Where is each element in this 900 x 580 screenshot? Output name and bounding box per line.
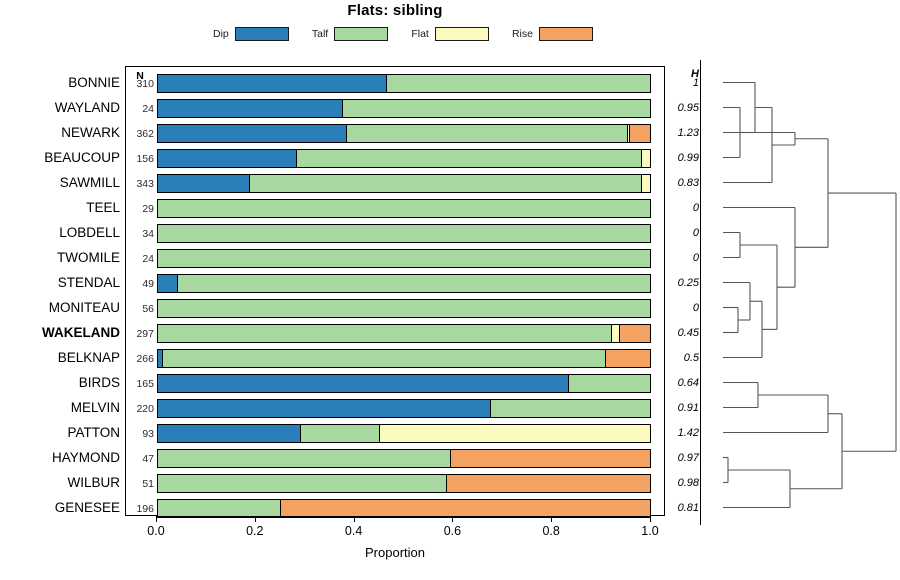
h-value: 0.95 bbox=[665, 102, 699, 114]
y-axis-label-wayland: WAYLAND bbox=[2, 100, 120, 115]
bar-track bbox=[157, 399, 651, 418]
h-value: 0 bbox=[665, 202, 699, 214]
x-axis-tick bbox=[255, 516, 256, 522]
legend-label-talf: Talf bbox=[312, 28, 328, 40]
y-axis-label-belknap: BELKNAP bbox=[2, 350, 120, 365]
bar-row[interactable] bbox=[157, 174, 651, 193]
bar-track bbox=[157, 349, 651, 368]
n-value: 343 bbox=[126, 178, 154, 190]
bar-row[interactable] bbox=[157, 149, 651, 168]
bar-segment-flat bbox=[612, 325, 620, 342]
bar-row[interactable] bbox=[157, 274, 651, 293]
h-value: 0.45 bbox=[665, 327, 699, 339]
bar-row[interactable] bbox=[157, 74, 651, 93]
bar-track bbox=[157, 449, 651, 468]
bar-segment-rise bbox=[620, 325, 650, 342]
bar-segment-flat bbox=[642, 150, 650, 167]
bar-segment-flat bbox=[380, 425, 650, 442]
h-value: 1 bbox=[665, 77, 699, 89]
bar-row[interactable] bbox=[157, 249, 651, 268]
y-axis-label-birds: BIRDS bbox=[2, 375, 120, 390]
h-value: 0.98 bbox=[665, 477, 699, 489]
y-axis-label-bonnie: BONNIE bbox=[2, 75, 120, 90]
n-value: 34 bbox=[126, 228, 154, 240]
dendrogram bbox=[700, 60, 900, 525]
bar-segment-talf bbox=[158, 450, 451, 467]
page-title: Flats: sibling bbox=[0, 2, 790, 19]
h-value: 0.64 bbox=[665, 377, 699, 389]
bar-segment-dip bbox=[158, 375, 569, 392]
h-value: 0.97 bbox=[665, 452, 699, 464]
bar-row[interactable] bbox=[157, 449, 651, 468]
legend-swatch-talf bbox=[334, 27, 388, 41]
bar-track bbox=[157, 174, 651, 193]
bar-row[interactable] bbox=[157, 424, 651, 443]
bar-segment-talf bbox=[158, 250, 650, 267]
bar-track bbox=[157, 299, 651, 318]
bar-track bbox=[157, 224, 651, 243]
x-axis-tick-label: 0.6 bbox=[432, 524, 472, 538]
n-value: 29 bbox=[126, 203, 154, 215]
n-value: 196 bbox=[126, 503, 154, 515]
legend-swatch-dip bbox=[235, 27, 289, 41]
x-axis-tick bbox=[156, 516, 157, 522]
bar-segment-dip bbox=[158, 425, 301, 442]
legend-swatch-rise bbox=[539, 27, 593, 41]
y-axis-label-stendal: STENDAL bbox=[2, 275, 120, 290]
bar-segment-talf bbox=[569, 375, 650, 392]
n-value: 220 bbox=[126, 403, 154, 415]
bar-segment-dip bbox=[158, 75, 387, 92]
y-axis-label-lobdell: LOBDELL bbox=[2, 225, 120, 240]
h-value: 0.25 bbox=[665, 277, 699, 289]
bar-track bbox=[157, 374, 651, 393]
legend-label-rise: Rise bbox=[512, 28, 533, 40]
h-value: 0.83 bbox=[665, 177, 699, 189]
plot-area: N 31024362156343293424495629726616522093… bbox=[125, 66, 665, 516]
h-value: 1.42 bbox=[665, 427, 699, 439]
x-axis: 0.00.20.40.60.81.0 bbox=[125, 516, 665, 546]
bar-segment-talf bbox=[158, 300, 650, 317]
y-axis-label-wilbur: WILBUR bbox=[2, 475, 120, 490]
y-axis-label-teel: TEEL bbox=[2, 200, 120, 215]
bar-segment-dip bbox=[158, 175, 250, 192]
n-value: 266 bbox=[126, 353, 154, 365]
n-value: 165 bbox=[126, 378, 154, 390]
bar-segment-talf bbox=[491, 400, 650, 417]
x-axis-title: Proportion bbox=[125, 545, 665, 560]
bar-segment-talf bbox=[301, 425, 380, 442]
x-axis-tick-label: 0.4 bbox=[334, 524, 374, 538]
x-axis-tick bbox=[452, 516, 453, 522]
bar-segment-rise bbox=[630, 125, 650, 142]
legend-item-flat: Flat bbox=[411, 27, 489, 41]
bar-row[interactable] bbox=[157, 124, 651, 143]
x-axis-tick-label: 1.0 bbox=[630, 524, 670, 538]
n-value: 24 bbox=[126, 253, 154, 265]
y-axis-labels: BONNIEWAYLANDNEWARKBEAUCOUPSAWMILLTEELLO… bbox=[0, 66, 120, 516]
bar-row[interactable] bbox=[157, 224, 651, 243]
bar-segment-talf bbox=[158, 200, 650, 217]
bar-track bbox=[157, 424, 651, 443]
n-value: 297 bbox=[126, 328, 154, 340]
legend-label-flat: Flat bbox=[411, 28, 429, 40]
x-axis-tick-label: 0.2 bbox=[235, 524, 275, 538]
bar-segment-rise bbox=[281, 500, 650, 517]
bar-track bbox=[157, 124, 651, 143]
x-axis-tick bbox=[354, 516, 355, 522]
bar-segment-rise bbox=[447, 475, 650, 492]
x-axis-tick-label: 0.8 bbox=[531, 524, 571, 538]
h-value: 0.99 bbox=[665, 152, 699, 164]
bar-segment-talf bbox=[163, 350, 605, 367]
stacked-bars-layer: 3102436215634329342449562972661652209347… bbox=[126, 67, 664, 515]
y-axis-label-sawmill: SAWMILL bbox=[2, 175, 120, 190]
bar-track bbox=[157, 274, 651, 293]
legend: Dip Talf Flat Rise bbox=[213, 25, 593, 43]
bar-segment-talf bbox=[158, 500, 281, 517]
x-axis-tick bbox=[551, 516, 552, 522]
y-axis-label-patton: PATTON bbox=[2, 425, 120, 440]
y-axis-label-haymond: HAYMOND bbox=[2, 450, 120, 465]
bar-track bbox=[157, 474, 651, 493]
bar-track bbox=[157, 249, 651, 268]
y-axis-label-wakeland: WAKELAND bbox=[2, 325, 120, 340]
bar-segment-dip bbox=[158, 100, 343, 117]
n-value: 47 bbox=[126, 453, 154, 465]
bar-segment-talf bbox=[250, 175, 642, 192]
h-value: 0.5 bbox=[665, 352, 699, 364]
n-value: 156 bbox=[126, 153, 154, 165]
legend-item-rise: Rise bbox=[512, 27, 593, 41]
h-column: H 10.951.230.990.830000.2500.450.50.640.… bbox=[665, 66, 703, 516]
n-value: 49 bbox=[126, 278, 154, 290]
y-axis-label-twomile: TWOMILE bbox=[2, 250, 120, 265]
h-value: 0 bbox=[665, 302, 699, 314]
bar-row[interactable] bbox=[157, 324, 651, 343]
dendrogram-tree bbox=[700, 60, 900, 525]
y-axis-label-beaucoup: BEAUCOUP bbox=[2, 150, 120, 165]
bar-segment-talf bbox=[343, 100, 651, 117]
bar-track bbox=[157, 199, 651, 218]
n-value: 56 bbox=[126, 303, 154, 315]
bar-track bbox=[157, 99, 651, 118]
h-value: 1.23 bbox=[665, 127, 699, 139]
bar-segment-flat bbox=[642, 175, 650, 192]
bar-row[interactable] bbox=[157, 474, 651, 493]
bar-segment-talf bbox=[158, 475, 447, 492]
y-axis-label-genesee: GENESEE bbox=[2, 500, 120, 515]
bar-row[interactable] bbox=[157, 99, 651, 118]
x-axis-tick-label: 0.0 bbox=[136, 524, 176, 538]
bar-segment-talf bbox=[178, 275, 650, 292]
bar-segment-talf bbox=[347, 125, 627, 142]
h-value: 0.81 bbox=[665, 502, 699, 514]
h-value: 0 bbox=[665, 227, 699, 239]
bar-segment-rise bbox=[606, 350, 650, 367]
n-value: 24 bbox=[126, 103, 154, 115]
bar-track bbox=[157, 149, 651, 168]
bar-segment-talf bbox=[158, 225, 650, 242]
bar-segment-talf bbox=[158, 325, 612, 342]
x-axis-line bbox=[156, 516, 650, 517]
legend-label-dip: Dip bbox=[213, 28, 229, 40]
bar-row[interactable] bbox=[157, 349, 651, 368]
y-axis-label-melvin: MELVIN bbox=[2, 400, 120, 415]
bar-row[interactable] bbox=[157, 374, 651, 393]
h-value: 0 bbox=[665, 252, 699, 264]
bar-segment-talf bbox=[297, 150, 641, 167]
bar-row[interactable] bbox=[157, 299, 651, 318]
y-axis-label-moniteau: MONITEAU bbox=[2, 300, 120, 315]
bar-segment-talf bbox=[387, 75, 650, 92]
bar-segment-dip bbox=[158, 150, 297, 167]
n-value: 93 bbox=[126, 428, 154, 440]
bar-row[interactable] bbox=[157, 199, 651, 218]
bar-segment-dip bbox=[158, 275, 178, 292]
bar-segment-dip bbox=[158, 400, 491, 417]
legend-swatch-flat bbox=[435, 27, 489, 41]
legend-item-dip: Dip bbox=[213, 27, 289, 41]
n-value: 362 bbox=[126, 128, 154, 140]
bar-row[interactable] bbox=[157, 399, 651, 418]
bar-segment-rise bbox=[451, 450, 650, 467]
h-value: 0.91 bbox=[665, 402, 699, 414]
n-value: 310 bbox=[126, 78, 154, 90]
x-axis-tick bbox=[650, 516, 651, 522]
n-value: 51 bbox=[126, 478, 154, 490]
legend-item-talf: Talf bbox=[312, 27, 388, 41]
bar-segment-dip bbox=[158, 125, 347, 142]
y-axis-label-newark: NEWARK bbox=[2, 125, 120, 140]
bar-track bbox=[157, 324, 651, 343]
bar-track bbox=[157, 74, 651, 93]
